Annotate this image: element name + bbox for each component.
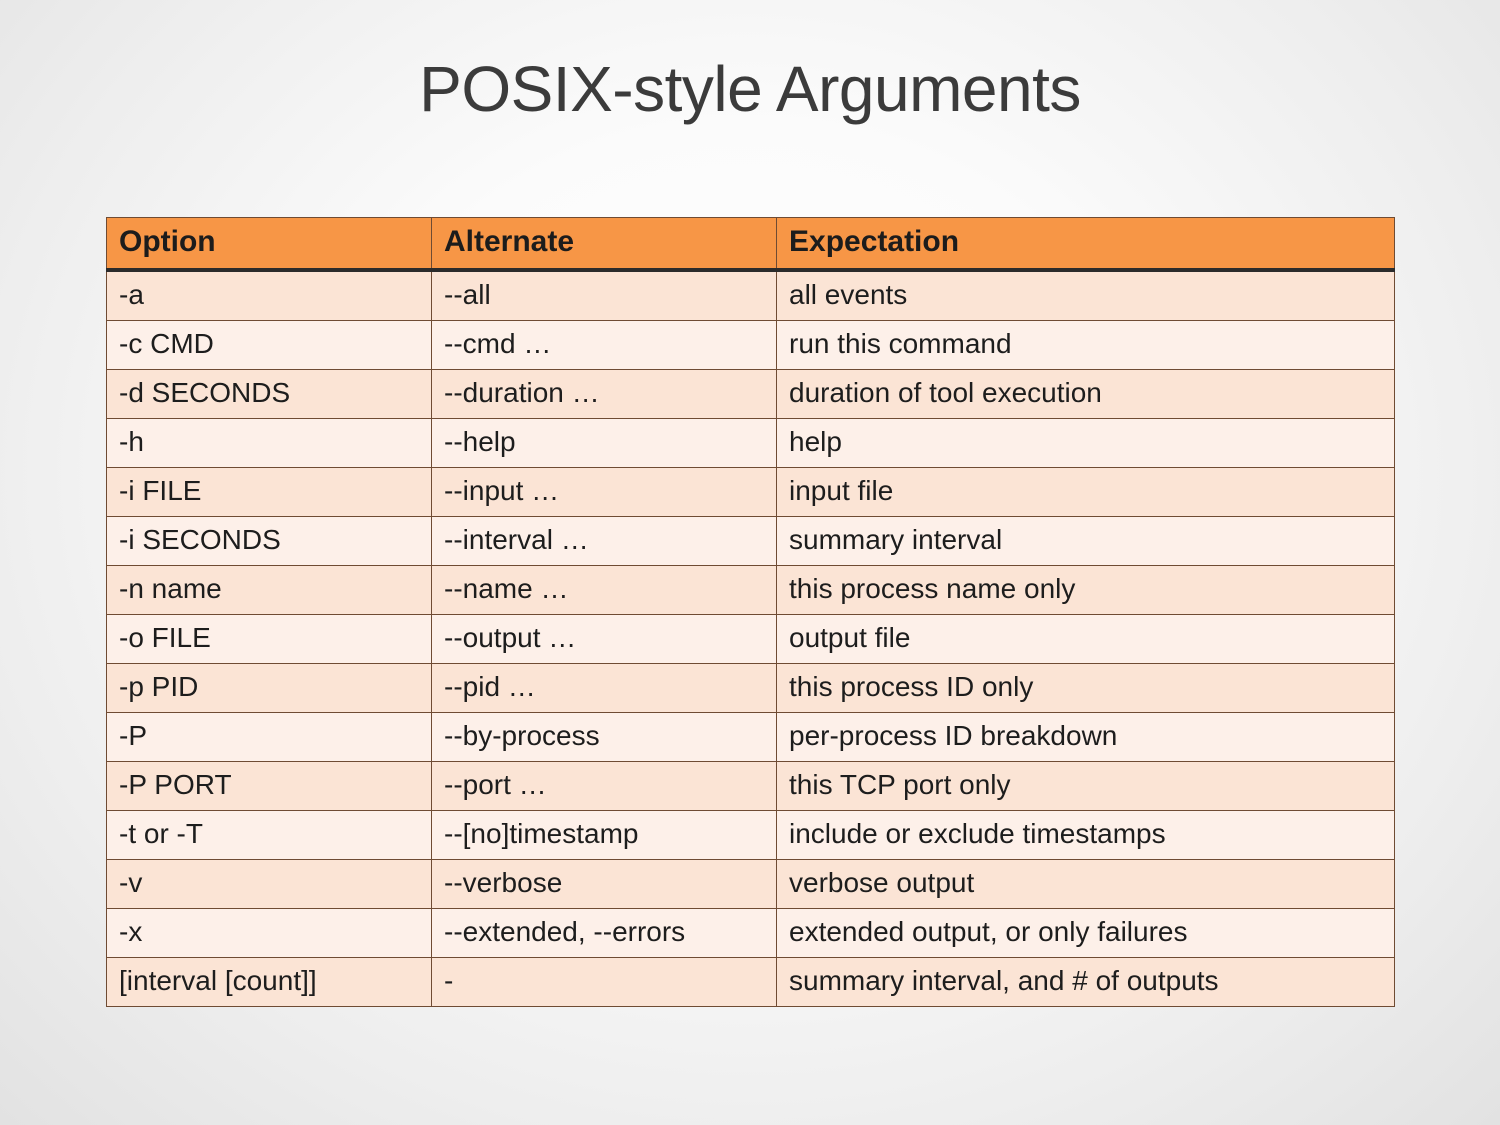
table-row: -i SECONDS --interval … summary interval [107,517,1395,566]
cell-expectation: verbose output [777,860,1395,909]
cell-alternate: --cmd … [432,321,777,370]
column-header-alternate: Alternate [432,218,777,271]
cell-expectation: extended output, or only failures [777,909,1395,958]
column-header-option: Option [107,218,432,271]
slide: POSIX-style Arguments Option Alternate E… [0,0,1500,1125]
cell-alternate: --interval … [432,517,777,566]
table-row: -n name --name … this process name only [107,566,1395,615]
column-header-expectation: Expectation [777,218,1395,271]
table-head: Option Alternate Expectation [107,218,1395,271]
cell-option: -a [107,270,432,321]
table-row: [interval [count]] - summary interval, a… [107,958,1395,1007]
cell-alternate: --port … [432,762,777,811]
cell-alternate: --pid … [432,664,777,713]
cell-option: -i SECONDS [107,517,432,566]
cell-alternate: --input … [432,468,777,517]
cell-alternate: --duration … [432,370,777,419]
cell-option: -P [107,713,432,762]
cell-option: [interval [count]] [107,958,432,1007]
table-row: -i FILE --input … input file [107,468,1395,517]
table-row: -t or -T --[no]timestamp include or excl… [107,811,1395,860]
cell-expectation: per-process ID breakdown [777,713,1395,762]
cell-expectation: summary interval, and # of outputs [777,958,1395,1007]
cell-expectation: this TCP port only [777,762,1395,811]
cell-expectation: summary interval [777,517,1395,566]
cell-alternate: --name … [432,566,777,615]
cell-alternate: --by-process [432,713,777,762]
cell-expectation: this process ID only [777,664,1395,713]
cell-alternate: --extended, --errors [432,909,777,958]
cell-alternate: - [432,958,777,1007]
page-title: POSIX-style Arguments [0,52,1500,126]
cell-expectation: include or exclude timestamps [777,811,1395,860]
cell-option: -t or -T [107,811,432,860]
cell-option: -o FILE [107,615,432,664]
table-row: -P --by-process per-process ID breakdown [107,713,1395,762]
table-row: -p PID --pid … this process ID only [107,664,1395,713]
table-header-row: Option Alternate Expectation [107,218,1395,271]
cell-option: -v [107,860,432,909]
cell-option: -p PID [107,664,432,713]
cell-option: -i FILE [107,468,432,517]
table-body: -a --all all events -c CMD --cmd … run t… [107,270,1395,1007]
table-row: -o FILE --output … output file [107,615,1395,664]
cell-option: -n name [107,566,432,615]
cell-option: -h [107,419,432,468]
table-row: -d SECONDS --duration … duration of tool… [107,370,1395,419]
cell-expectation: output file [777,615,1395,664]
cell-alternate: --help [432,419,777,468]
cell-option: -x [107,909,432,958]
cell-expectation: this process name only [777,566,1395,615]
table-row: -c CMD --cmd … run this command [107,321,1395,370]
cell-expectation: all events [777,270,1395,321]
cell-expectation: duration of tool execution [777,370,1395,419]
table-row: -x --extended, --errors extended output,… [107,909,1395,958]
cell-alternate: --verbose [432,860,777,909]
table-row: -v --verbose verbose output [107,860,1395,909]
table-row: -h --help help [107,419,1395,468]
cell-alternate: --[no]timestamp [432,811,777,860]
cell-expectation: input file [777,468,1395,517]
table-row: -P PORT --port … this TCP port only [107,762,1395,811]
cell-expectation: help [777,419,1395,468]
posix-arguments-table-container: Option Alternate Expectation -a --all al… [106,217,1394,1007]
cell-alternate: --output … [432,615,777,664]
cell-option: -d SECONDS [107,370,432,419]
cell-option: -P PORT [107,762,432,811]
cell-alternate: --all [432,270,777,321]
posix-arguments-table: Option Alternate Expectation -a --all al… [106,217,1395,1007]
cell-option: -c CMD [107,321,432,370]
cell-expectation: run this command [777,321,1395,370]
table-row: -a --all all events [107,270,1395,321]
